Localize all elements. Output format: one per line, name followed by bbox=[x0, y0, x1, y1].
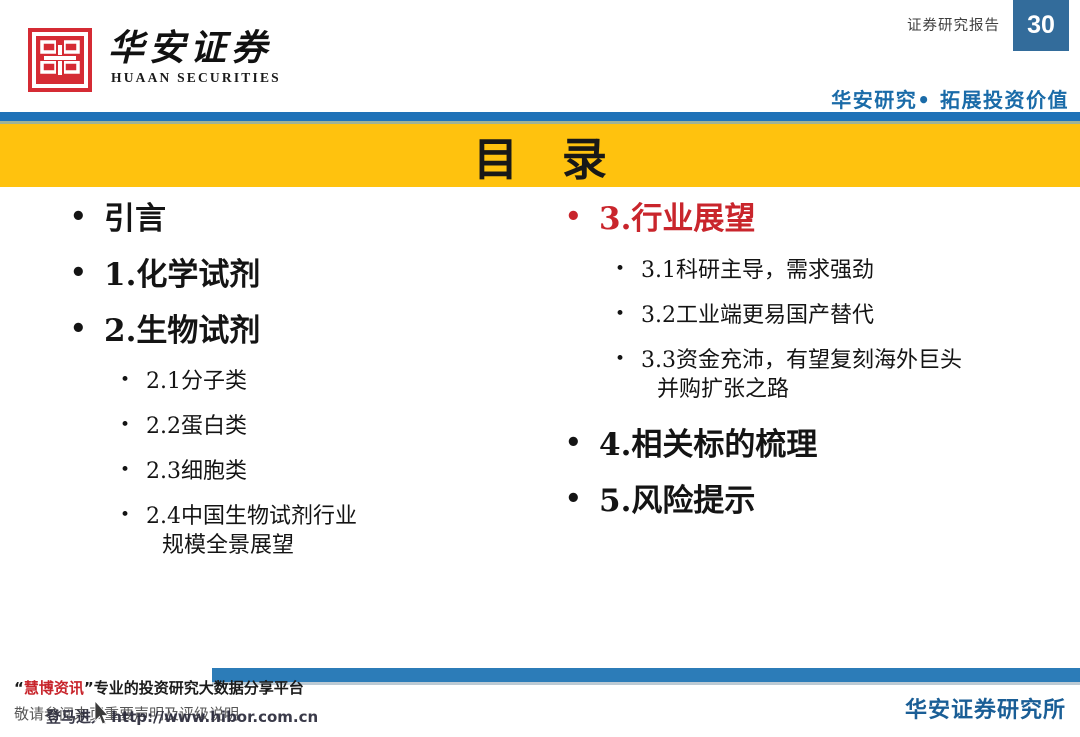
toc-subitem-label-wrap: 2.4中国生物试剂行业 规模全景展望 bbox=[146, 502, 357, 560]
bullet-icon: • bbox=[70, 312, 104, 346]
slide-header: 华安证券 HUAAN SECURITIES 证券研究报告 30 华安研究• 拓展… bbox=[0, 0, 1080, 112]
toc-item-label: 1.化学试剂 bbox=[104, 256, 260, 295]
toc-subitems-biological: • 2.1分子类 • 2.2蛋白类 • 2.3细胞类 • 2.4中国生物试剂行业… bbox=[70, 367, 540, 560]
bullet-icon: • bbox=[565, 482, 599, 516]
watermark-quote-open: “ bbox=[14, 679, 24, 697]
toc-subitem-cell[interactable]: • 2.3细胞类 bbox=[120, 457, 540, 486]
toc-item-label: 引言 bbox=[104, 200, 166, 239]
toc-subitem-label-continued: 并购扩张之路 bbox=[641, 375, 962, 404]
page-number-badge: 30 bbox=[1013, 0, 1069, 51]
toc-subitem-label-wrap: 3.3资金充沛，有望复刻海外巨头 并购扩张之路 bbox=[641, 346, 962, 404]
toc-subitem-label-continued: 规模全景展望 bbox=[146, 531, 357, 560]
bullet-icon: • bbox=[70, 256, 104, 290]
toc-item-introduction[interactable]: • 引言 bbox=[70, 200, 540, 239]
logo-name-en: HUAAN SECURITIES bbox=[111, 70, 281, 86]
bullet-icon: • bbox=[565, 200, 599, 234]
toc-item-risk-warning[interactable]: • 5.风险提示 bbox=[565, 482, 1070, 521]
toc-content: • 引言 • 1.化学试剂 • 2.生物试剂 • 2.1分子类 • 2.2蛋白类 bbox=[0, 200, 1080, 655]
toc-subitem-protein[interactable]: • 2.2蛋白类 bbox=[120, 412, 540, 441]
watermark-quote-close: ” bbox=[84, 679, 94, 697]
footer-bar-shadow bbox=[212, 682, 1080, 685]
toc-item-label: 5.风险提示 bbox=[599, 482, 755, 521]
bullet-icon: • bbox=[70, 200, 104, 234]
toc-subitem-label: 3.3资金充沛，有望复刻海外巨头 bbox=[641, 348, 962, 373]
bullet-icon: • bbox=[120, 412, 146, 438]
watermark-tagline: 专业的投资研究大数据分享平台 bbox=[94, 679, 304, 697]
banner-blue-strip bbox=[0, 112, 1080, 121]
toc-item-industry-outlook[interactable]: • 3.行业展望 bbox=[565, 200, 1070, 239]
toc-item-label: 4.相关标的梳理 bbox=[599, 426, 817, 465]
bullet-icon: • bbox=[120, 457, 146, 483]
toc-subitem-capital-ma-expansion[interactable]: • 3.3资金充沛，有望复刻海外巨头 并购扩张之路 bbox=[615, 346, 1070, 404]
bullet-icon: • bbox=[615, 346, 641, 372]
watermark-tagline-line: “慧博资讯”专业的投资研究大数据分享平台 bbox=[14, 677, 304, 698]
toc-subitem-research-driven-demand[interactable]: • 3.1科研主导，需求强劲 bbox=[615, 256, 1070, 285]
toc-left-column: • 引言 • 1.化学试剂 • 2.生物试剂 • 2.1分子类 • 2.2蛋白类 bbox=[70, 200, 540, 576]
logo-name-cn: 华安证券 bbox=[108, 30, 281, 68]
slide-footer: 华安证券研究所 “慧博资讯”专业的投资研究大数据分享平台 敬请参阅末页重要声明及… bbox=[0, 655, 1080, 737]
footer-blue-bar bbox=[212, 668, 1080, 682]
bullet-icon: • bbox=[120, 367, 146, 393]
toc-subitem-label: 3.1科研主导，需求强劲 bbox=[641, 256, 874, 285]
footer-organization: 华安证券研究所 bbox=[905, 692, 1066, 724]
slide-root: 华安证券 HUAAN SECURITIES 证券研究报告 30 华安研究• 拓展… bbox=[0, 0, 1080, 737]
mouse-cursor-icon bbox=[94, 701, 110, 727]
toc-item-biological-reagents[interactable]: • 2.生物试剂 bbox=[70, 312, 540, 351]
toc-subitem-label: 2.3细胞类 bbox=[146, 457, 247, 486]
toc-subitem-label: 2.2蛋白类 bbox=[146, 412, 247, 441]
bullet-icon: • bbox=[615, 301, 641, 327]
bullet-icon: • bbox=[120, 502, 146, 528]
toc-item-chemical-reagents[interactable]: • 1.化学试剂 bbox=[70, 256, 540, 295]
toc-item-label: 3.行业展望 bbox=[599, 200, 755, 239]
toc-subitems-industry-outlook: • 3.1科研主导，需求强劲 • 3.2工业端更易国产替代 • 3.3资金充沛，… bbox=[565, 256, 1070, 404]
header-slogan: 华安研究• 拓展投资价值 bbox=[831, 84, 1069, 113]
toc-subitem-china-market-outlook[interactable]: • 2.4中国生物试剂行业 规模全景展望 bbox=[120, 502, 540, 560]
huaan-logo-mark-icon bbox=[28, 28, 92, 92]
report-kind-label: 证券研究报告 bbox=[907, 14, 1000, 35]
watermark-url: 登马进入 http://www.hibor.com.cn bbox=[46, 706, 318, 727]
logo-text-block: 华安证券 HUAAN SECURITIES bbox=[108, 28, 281, 86]
toc-subitem-label: 2.4中国生物试剂行业 bbox=[146, 504, 357, 529]
toc-subitem-industrial-localization[interactable]: • 3.2工业端更易国产替代 bbox=[615, 301, 1070, 330]
toc-subitem-label: 2.1分子类 bbox=[146, 367, 247, 396]
toc-subitem-molecular[interactable]: • 2.1分子类 bbox=[120, 367, 540, 396]
bullet-icon: • bbox=[615, 256, 641, 282]
footer-overlapping-text: 敬请参阅末页重要声明及评级说明 登马进入 http://www.hibor.co… bbox=[8, 703, 528, 733]
toc-item-label: 2.生物试剂 bbox=[104, 312, 260, 351]
watermark-brand: 慧博资讯 bbox=[24, 679, 84, 697]
toc-subitem-label: 3.2工业端更易国产替代 bbox=[641, 301, 874, 330]
toc-right-column: • 3.行业展望 • 3.1科研主导，需求强劲 • 3.2工业端更易国产替代 •… bbox=[565, 200, 1070, 537]
toc-item-related-targets[interactable]: • 4.相关标的梳理 bbox=[565, 426, 1070, 465]
company-logo: 华安证券 HUAAN SECURITIES bbox=[28, 28, 281, 92]
bullet-icon: • bbox=[565, 426, 599, 460]
page-title: 目 录 bbox=[0, 124, 1080, 187]
